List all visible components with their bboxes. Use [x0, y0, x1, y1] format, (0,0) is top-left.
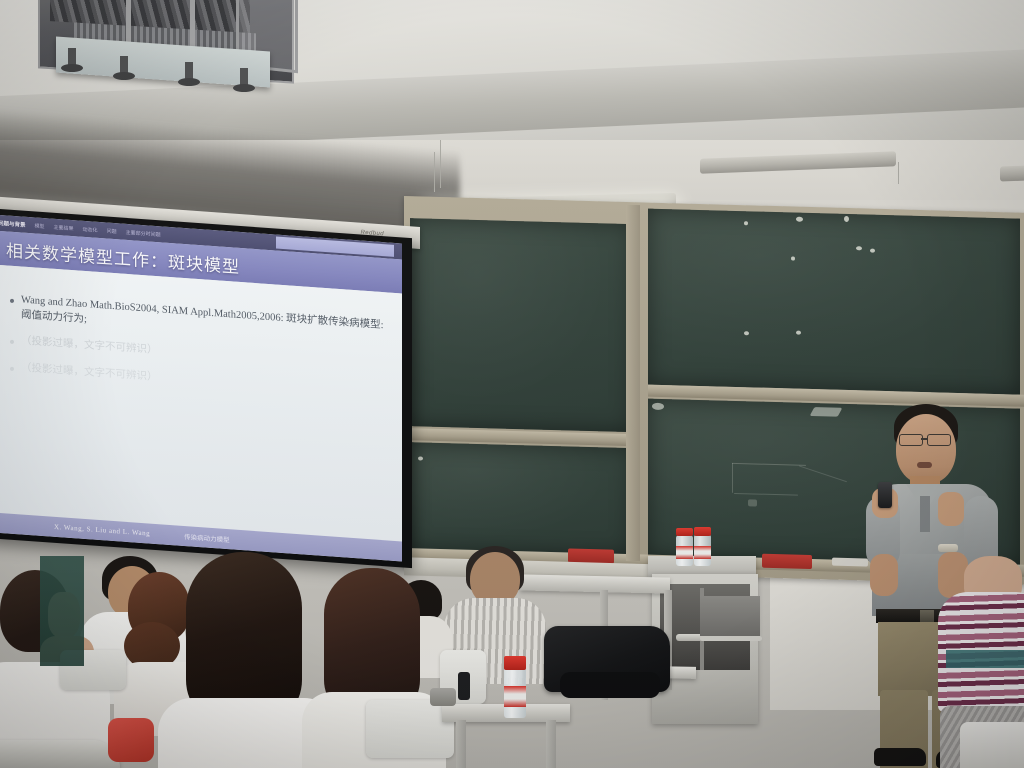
wall-rail [700, 636, 762, 641]
chalk-smudge [810, 407, 843, 417]
slide-nav-item-2: 动态化 [83, 225, 98, 233]
presenter-placket [920, 496, 930, 532]
phone-on-desk [458, 672, 470, 700]
wall-recess [700, 596, 760, 636]
light-hanger-wire [434, 152, 435, 192]
bottle-label [676, 546, 693, 559]
classroom-photo: Redbud 问题与背景 模型 主要结果 动态化 问题 主要部分时间题 相关数学… [0, 0, 1024, 768]
chalk-dot [856, 246, 862, 250]
chair-back-center [366, 700, 454, 758]
presenter-left-shoe [874, 748, 926, 766]
slide-nav-item-4: 主要部分时间题 [126, 228, 161, 237]
chalk-line [732, 463, 806, 466]
chalk-dot [844, 216, 849, 222]
projector-foot [120, 56, 128, 76]
presenter-head [896, 414, 956, 484]
desk-front-left [0, 740, 120, 768]
desk-back-right [520, 574, 670, 593]
chalk-letter [748, 499, 757, 506]
light-hanger-wire [898, 162, 899, 184]
chalk-dot [870, 249, 875, 253]
wristwatch [938, 544, 958, 552]
chalk-line [799, 465, 847, 482]
backpack-strap [560, 672, 660, 698]
chalk-dot [796, 217, 803, 222]
glasses-bridge-icon [921, 438, 927, 440]
presenter-right-hand [938, 492, 964, 526]
slide-bullet-3-text: （投影过曝，文字不可辨识） [21, 360, 158, 385]
curtain [40, 556, 84, 666]
chalk-line [732, 463, 733, 493]
bottle-cap [676, 528, 693, 536]
red-bag [108, 718, 154, 762]
water-bottle-ledge-2 [694, 527, 711, 566]
slide-body: Wang and Zhao Math.BioS2004, SIAM Appl.M… [0, 264, 402, 541]
chalk-box-right [762, 554, 812, 569]
slide-footer-authors: X. Wang, S. Liu and L. Wang [54, 523, 150, 538]
bullet-marker-icon [10, 366, 14, 370]
bottle-label [694, 546, 711, 559]
projector-foot [240, 68, 248, 88]
bottle-label [504, 686, 526, 707]
bottle-cap [504, 656, 526, 670]
bottle-cap [694, 527, 711, 536]
board-panel-right-upper [648, 209, 1020, 395]
presenter-left-forearm [870, 554, 898, 596]
glasses-icon [899, 434, 923, 446]
projection-screen: 问题与背景 模型 主要结果 动态化 问题 主要部分时间题 相关数学模型工作：斑块… [0, 208, 412, 568]
projector-foot [68, 48, 76, 68]
chair-front-right [960, 722, 1024, 768]
chalk-smudge [652, 403, 664, 410]
projector-foot [185, 62, 193, 82]
presentation-remote[interactable] [878, 482, 892, 508]
slide-footer-affiliation: 传染病动力模型 [184, 531, 230, 544]
board-panel-left-upper [410, 218, 632, 432]
chalk-dot [796, 331, 801, 335]
chalk-dot [791, 256, 795, 260]
chalk-line [734, 493, 798, 496]
sweater-teal-band [946, 650, 1024, 668]
presenter-mouth [917, 462, 932, 468]
water-bottle-on-desk [504, 656, 526, 718]
small-object-on-desk [430, 688, 456, 706]
bullet-marker-icon [10, 340, 14, 344]
desk-leg [456, 720, 466, 768]
water-bottle-ledge-1 [676, 528, 693, 566]
slide-nav-item-3: 问题 [107, 227, 117, 235]
desk-leg [546, 720, 556, 768]
slide-surface: 问题与背景 模型 主要结果 动态化 问题 主要部分时间题 相关数学模型工作：斑块… [0, 214, 402, 561]
audience-woman-long-dark-hair [164, 552, 324, 768]
chalk-dot [418, 456, 423, 460]
bullet-marker-icon [10, 299, 14, 303]
belt-buckle [920, 610, 934, 622]
light-hanger-wire [440, 140, 441, 188]
slide-nav-item-0: 模型 [35, 222, 45, 230]
glasses-icon [927, 434, 951, 446]
fluorescent-fixture-far [1000, 165, 1024, 181]
board-divider-post [626, 205, 640, 561]
chalk-dot [744, 221, 748, 225]
slide-nav-brand: 问题与背景 [0, 219, 26, 229]
board-panel-left-lower [408, 442, 632, 556]
slide-bullet-2-text: （投影过曝，文字不可辨识） [21, 334, 158, 359]
slide-nav-item-1: 主要结果 [54, 223, 74, 231]
chalk-dot [744, 331, 749, 335]
